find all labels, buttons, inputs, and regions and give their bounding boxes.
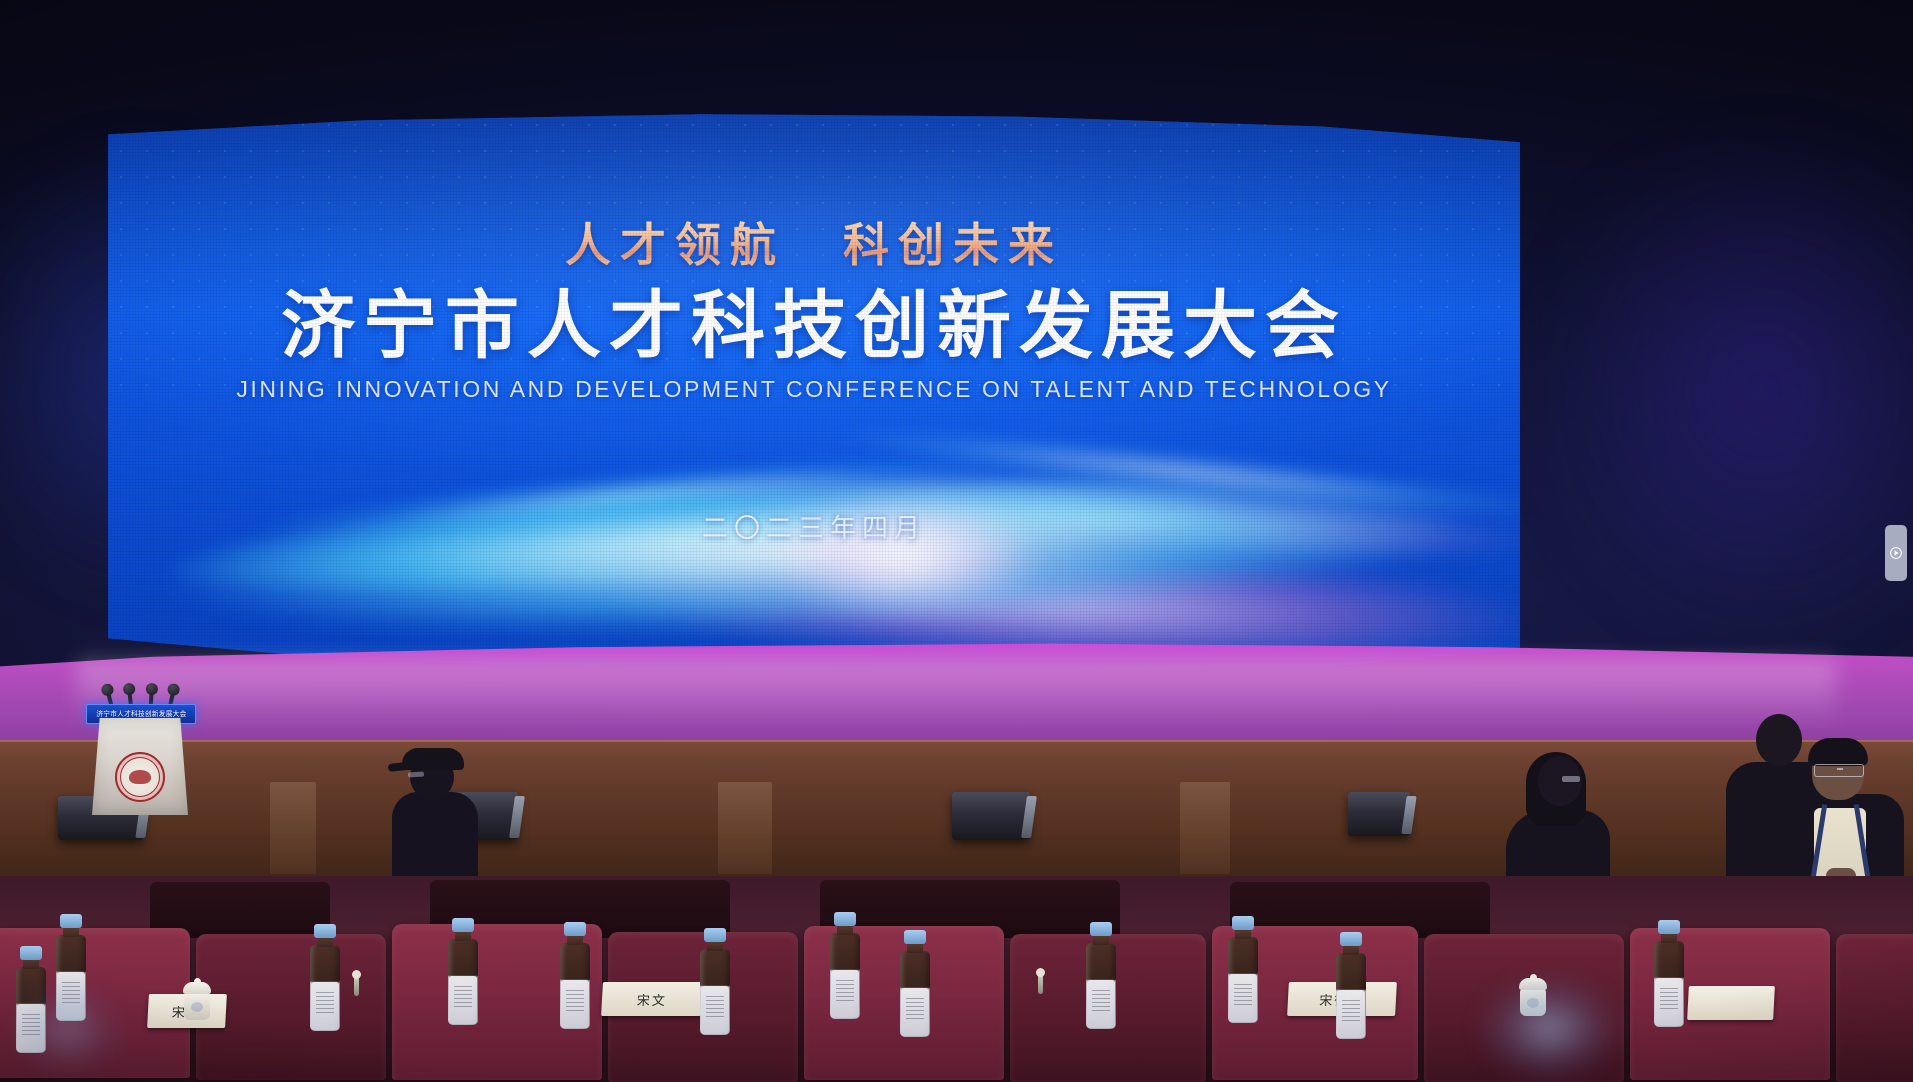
stage-front-panel	[718, 782, 772, 874]
screen-tagline: 人才领航科创未来	[108, 220, 1520, 271]
glasses-icon	[1562, 776, 1580, 782]
bottle-cap	[20, 946, 42, 960]
bottle-neck	[567, 935, 583, 945]
hall-glow-right	[1453, 40, 1913, 740]
bottle-label	[1087, 980, 1115, 1028]
tagline-left: 人才领航	[565, 219, 785, 271]
bottle-label	[449, 976, 477, 1024]
bottle-neck	[907, 943, 923, 953]
bottle-neck	[1235, 929, 1251, 939]
stage-monitor-speaker	[1348, 792, 1410, 836]
screen-text-block: 人才领航科创未来 济宁市人才科技创新发展大会 JINING INNOVATION…	[108, 220, 1520, 403]
bottle-cap	[834, 912, 856, 926]
bottle-label	[831, 970, 859, 1018]
stage-monitor-speaker	[952, 792, 1030, 840]
bottle-cap	[1232, 916, 1254, 930]
screen-main-title: 济宁市人才科技创新发展大会	[108, 287, 1520, 365]
name-card: 宋文	[601, 982, 703, 1016]
audience-seating-foreground: 宋文 宋文 宋徽泊	[0, 876, 1913, 1082]
hair	[1808, 738, 1868, 766]
bottle-cap	[1090, 922, 1112, 936]
man-in-cap-on-stage	[372, 746, 492, 896]
bottle-label	[901, 988, 929, 1036]
cup-body	[184, 993, 210, 1020]
cup-lid	[183, 982, 211, 994]
bottle-cap	[704, 928, 726, 942]
tea-cup	[182, 980, 212, 1020]
bottle-cap	[1340, 932, 1362, 946]
podium-sign-text: 济宁市人才科技创新发展大会	[96, 709, 186, 719]
glasses-icon	[1814, 764, 1864, 777]
bottle-label	[1229, 974, 1257, 1022]
bottle-cap	[564, 922, 586, 936]
bottle-neck	[317, 937, 333, 947]
bottle-neck	[1343, 945, 1359, 955]
bottle-neck	[837, 925, 853, 935]
bottle-neck	[1093, 935, 1109, 945]
bottle-neck	[63, 927, 79, 937]
next-image-arrow[interactable]	[1885, 525, 1907, 581]
name-card	[1687, 986, 1775, 1020]
seat[interactable]	[1836, 934, 1913, 1082]
table-microphone	[354, 974, 359, 996]
bottle-cap	[314, 924, 336, 938]
bottle-neck	[707, 941, 723, 951]
screen-english-subtitle: JINING INNOVATION AND DEVELOPMENT CONFER…	[108, 376, 1520, 403]
bottle-cap	[60, 914, 82, 928]
bottle-neck	[455, 931, 471, 941]
table-microphone	[1038, 972, 1043, 994]
led-stage-screen: 人才领航科创未来 济宁市人才科技创新发展大会 JINING INNOVATION…	[108, 112, 1520, 672]
stage-front-panel	[270, 782, 316, 874]
light-hotspot	[735, 482, 1075, 632]
podium-emblem-icon	[115, 752, 165, 802]
conference-stage-photo: 人才领航科创未来 济宁市人才科技创新发展大会 JINING INNOVATION…	[0, 0, 1913, 1082]
bottle-neck	[1661, 933, 1677, 943]
bottle-neck	[23, 959, 39, 969]
stage-front-panel	[1180, 782, 1230, 874]
bottle-cap	[904, 930, 926, 944]
bottle-label	[1337, 990, 1365, 1038]
bottle-label	[311, 982, 339, 1030]
bottle-label	[1655, 978, 1683, 1026]
foreground-blur-object	[8, 980, 128, 1080]
bottle-label	[561, 980, 589, 1028]
name-card-text: 宋文	[636, 990, 667, 1009]
tagline-right: 科创未来	[843, 219, 1063, 271]
bottle-cap	[452, 918, 474, 932]
screen-date: 二〇二三年四月	[108, 508, 1520, 545]
foreground-blur-object	[1474, 972, 1624, 1082]
bottle-label	[701, 986, 729, 1034]
bottle-cap	[1658, 920, 1680, 934]
speaker-podium: 济宁市人才科技创新发展大会	[86, 690, 194, 815]
stage-floor-reflection	[77, 660, 1837, 730]
